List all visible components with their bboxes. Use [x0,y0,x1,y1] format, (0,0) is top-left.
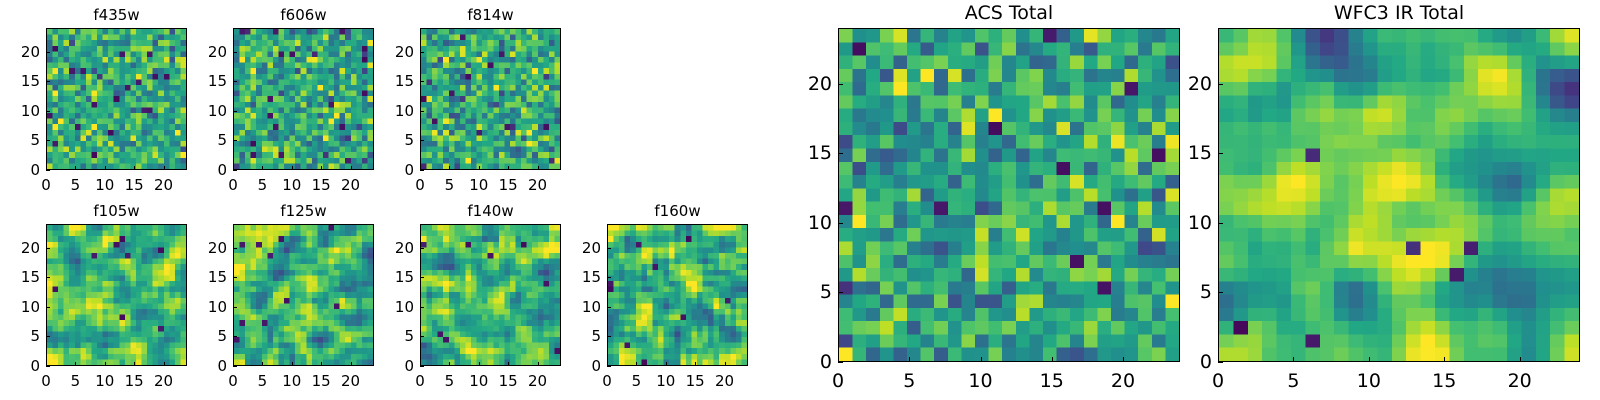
panel-wfc3-ir-total: WFC3 IR Total0510152005101520 [0,0,1600,400]
panel-title: WFC3 IR Total [1218,2,1580,24]
y-tick [1218,153,1223,154]
x-tick [1520,357,1521,362]
x-tick [1369,357,1370,362]
x-tick [1444,357,1445,362]
y-tick-label: 15 [1160,142,1212,164]
y-tick [1218,292,1223,293]
x-tick-label: 10 [1357,370,1381,392]
y-tick [1218,84,1223,85]
heatmap-image [1219,29,1579,361]
y-tick [1218,362,1223,363]
y-tick-label: 5 [1160,281,1212,303]
y-tick-label: 0 [1160,351,1212,373]
y-tick-label: 20 [1160,73,1212,95]
x-tick-label: 20 [1508,370,1532,392]
x-tick-label: 5 [1287,370,1299,392]
y-tick [1218,223,1223,224]
figure-canvas: f435w0510152005101520f606w05101520051015… [0,0,1600,400]
x-tick [1293,357,1294,362]
x-tick-label: 15 [1432,370,1456,392]
x-tick-label: 0 [1212,370,1224,392]
plot-area [1218,28,1580,362]
y-tick-label: 10 [1160,212,1212,234]
